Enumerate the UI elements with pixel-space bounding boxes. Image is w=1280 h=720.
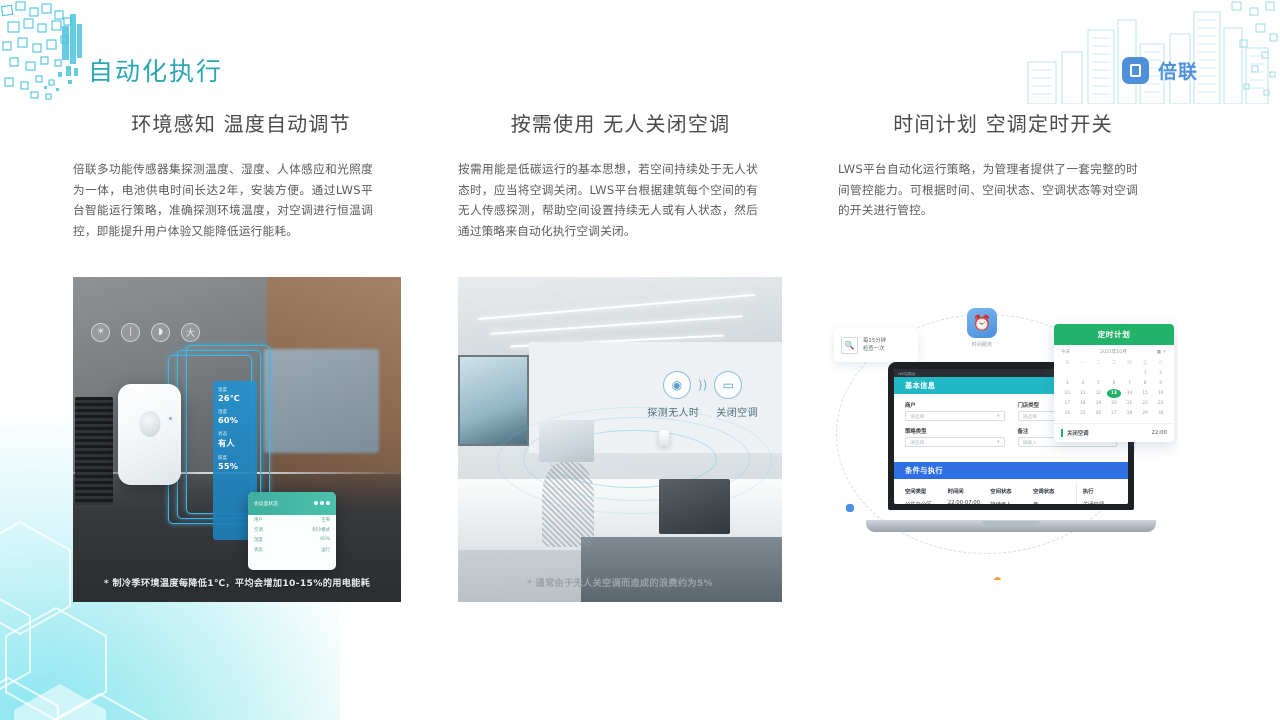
illuminance-icon: ☀ [91,323,110,342]
calendar-day[interactable]: 20 [1107,399,1122,408]
calendar-dow: 三 [1107,359,1122,368]
calendar-day[interactable]: 19 [1091,399,1106,408]
sensor-capability-icons: ☀ | ◗ 大 [91,323,201,351]
calendar-day[interactable]: 16 [1153,389,1168,398]
room-status-card: 会议室状态 用户 王英 空调 制冷模式 湿度 60% 状态 运行 [248,492,336,570]
calendar-day[interactable]: 5 [1091,379,1106,388]
page-title: 自动化执行 [88,52,223,88]
time-service-widget: ⏰ 时间服务 [962,308,1002,348]
calendar-day[interactable]: 9 [1153,379,1168,388]
th-ac-status: 空调状态 [1033,484,1076,497]
room-status-value-humidity: 60% [320,537,330,543]
vent [75,397,113,504]
occupancy-sensor-icon: ◉ [663,371,691,399]
calendar-day[interactable]: 4 [1076,379,1091,388]
room-status-value-state: 运行 [321,547,330,553]
time-service-label: 时间服务 [962,341,1002,348]
calendar-day[interactable]: 2 [1153,369,1168,378]
readout-key-humidity: 湿度 [218,409,252,415]
schedule-event-label: 关闭空调 [1061,429,1089,437]
mesh-chair [542,462,594,547]
schedule-panel-title: 定时计划 [1054,324,1174,345]
chevron-down-icon: ▾ [997,414,999,419]
feature-image-schedule-app: ⏰ 时间服务 🔍 每15分钟 检查一次 LWS控制台 基本信息 商户 [828,300,1178,580]
field-policy-type-value: 请选择 [910,439,924,446]
calendar-day[interactable]: 3 [1060,379,1075,388]
calendar-day[interactable]: 25 [1076,409,1091,418]
document-search-icon: 🔍 [841,337,858,354]
field-remark-value: 请输入 [1023,439,1037,446]
calendar-month-label[interactable]: 2021年10月 [1100,349,1127,355]
calendar-day[interactable]: 7 [1122,379,1137,388]
plus-icon[interactable]: ＋ [1162,350,1167,355]
multi-sensor-device [118,384,181,485]
calendar-day[interactable]: 1 [1138,369,1153,378]
column-1-heading: 环境感知 温度自动调节 [73,108,401,137]
room-status-label-humidity: 湿度 [254,537,263,543]
room-status-card-title: 会议室状态 [254,500,278,507]
calendar-dow: 日 [1060,359,1075,368]
brand-name: 倍联 [1158,57,1198,84]
calendar-day[interactable]: 30 [1153,409,1168,418]
schedule-event-time: 22:00 [1151,430,1167,436]
square-logo-icon [1122,57,1149,84]
overlay-labels: 探测无人时 关闭空调 [626,404,778,419]
calendar-dow: 四 [1122,359,1137,368]
calendar-day-empty [1076,369,1091,378]
readout-value-temperature: 26℃ [218,393,252,403]
td-space-type: 公共办公区 [905,497,948,504]
pixel-dispersion-decoration [0,0,96,104]
feature-column-1: 环境感知 温度自动调节 倍联多功能传感器集探测温度、湿度、人体感应和光照度为一体… [73,108,401,241]
th-space-status: 空间状态 [990,484,1033,497]
calendar-dow: 一 [1076,359,1091,368]
column-2-body: 按需用能是低碳运行的基本思想，若空间持续处于无人状态时，应当将空调关闭。LWS平… [458,159,758,241]
condition-exec-section-header: 条件与执行 [894,462,1128,479]
readout-value-illuminance: 55% [218,461,252,471]
th-action: 执行 [1076,484,1117,497]
calendar-dow: 五 [1138,359,1153,368]
th-time-range: 时间间 [948,484,991,497]
feature-column-2: 按需使用 无人关闭空调 按需用能是低碳运行的基本思想，若空间持续处于无人状态时，… [458,108,783,241]
td-space-status: 持续无人 [990,497,1033,504]
feature-column-3: 时间计划 空调定时开关 LWS平台自动化运行策略，为管理者提供了一套完整的时间管… [838,108,1168,221]
field-merchant-value: 请选择 [910,413,924,420]
calendar-day[interactable]: 10 [1060,389,1075,398]
calendar-dow: 六 [1153,359,1168,368]
calendar-nav-icons: ▦ ＋ [1157,349,1167,355]
calendar-dow: 二 [1091,359,1106,368]
readout-key-status: 状态 [218,431,252,437]
calendar-day[interactable]: 13 [1107,389,1122,398]
room-status-label-user: 用户 [254,517,263,523]
overlay-icons: ◉ )) ▭ [626,371,778,399]
field-policy-type-label: 策略类型 [905,427,1005,435]
image-2-overlay: ◉ )) ▭ 探测无人时 关闭空调 [626,371,778,419]
field-merchant-label: 商户 [905,401,1005,409]
feature-image-office: ◉ )) ▭ 探测无人时 关闭空调 * 通常由于无人关空调而造成的浪费约为5% [458,277,782,602]
accent-dot [846,504,854,512]
check-interval-line1: 每15分钟 [863,338,886,344]
room-status-label-ac: 空调 [254,527,263,533]
field-store-type-value: 请选择 [1023,413,1037,420]
room-status-card-header: 会议室状态 [248,492,336,515]
image-1-caption: * 制冷季环境温度每降低1℃，平均会增加10-15%的用电能耗 [73,575,401,589]
room-status-row: 状态 运行 [248,545,336,555]
schedule-event-row[interactable]: 关闭空调 22:00 [1054,423,1174,442]
readout-value-humidity: 60% [218,415,252,425]
td-time-range: 22:00-07:00 [948,497,991,504]
pir-lens [139,411,160,437]
chevron-down-icon: ▾ [997,440,999,445]
browser-tab-label: LWS控制台 [898,371,915,376]
grid-icon[interactable]: ▦ [1157,350,1161,355]
td-action: 关闭空调 [1076,497,1117,504]
calendar-day[interactable]: 18 [1076,399,1091,408]
motion-icon: 大 [181,323,200,342]
calendar-day[interactable]: 11 [1076,389,1091,398]
room-status-label-state: 状态 [254,547,263,553]
calendar-nav: 今天 2021年10月 ▦ ＋ [1054,345,1174,357]
calendar-day[interactable]: 21 [1122,399,1137,408]
calendar-day[interactable]: 27 [1107,409,1122,418]
calendar-day[interactable]: 28 [1122,409,1137,418]
calendar-day[interactable]: 6 [1107,379,1122,388]
image-2-caption: * 通常由于无人关空调而造成的浪费约为5% [458,575,782,589]
condition-exec-table: 空间类型 时间间 空间状态 空调状态 执行 公共办公区 22:00-07:00 … [894,479,1128,504]
readout-value-status: 有人 [218,437,252,449]
brand-logo: 倍联 [1122,57,1198,84]
room-status-value-ac: 制冷模式 [312,527,330,533]
field-policy-type: 策略类型 请选择 ▾ [905,427,1005,447]
calendar-day-empty [1091,369,1106,378]
office-desk-foreground [581,537,782,602]
calendar-day[interactable]: 14 [1122,389,1137,398]
column-3-body: LWS平台自动化运行策略，为管理者提供了一套完整的时间管控能力。可根据时间、空间… [838,159,1138,221]
city-skyline-decoration [1018,0,1280,104]
check-interval-text: 每15分钟 检查一次 [863,337,886,353]
column-3-heading: 时间计划 空调定时开关 [838,108,1168,137]
desk-monitor [539,420,594,462]
field-merchant-select[interactable]: 请选择 ▾ [905,411,1005,421]
calendar-today-button[interactable]: 今天 [1061,349,1070,355]
field-merchant: 商户 请选择 ▾ [905,401,1005,421]
calendar-day[interactable]: 12 [1091,389,1106,398]
alarm-clock-icon: ⏰ [967,308,997,338]
field-policy-type-select[interactable]: 请选择 ▾ [905,437,1005,447]
overlay-label-turnoff: 关闭空调 [716,404,758,419]
laptop-base [866,520,1156,532]
overlay-label-detect: 探测无人时 [647,404,699,419]
column-1-body: 倍联多功能传感器集探测温度、湿度、人体感应和光照度为一体，电池供电时间长达2年，… [73,159,373,241]
calendar-grid[interactable]: 日一二三四五六123456789101112131415161718192021… [1054,357,1174,423]
humidity-icon: ◗ [151,323,170,342]
status-led [169,417,172,420]
readout-key-temperature: 温度 [218,387,252,393]
schedule-panel: 定时计划 今天 2021年10月 ▦ ＋ 日一二三四五六123456789101… [1054,324,1174,442]
room-status-row: 空调 制冷模式 [248,525,336,535]
calendar-day[interactable]: 23 [1153,399,1168,408]
table-row: 公共办公区 22:00-07:00 持续无人 开 关闭空调 [905,497,1117,504]
accent-dot [994,577,1001,580]
check-interval-tooltip: 🔍 每15分钟 检查一次 [834,328,918,362]
air-conditioner-icon: ▭ [714,371,742,399]
readout-key-illuminance: 照度 [218,455,252,461]
check-interval-line2: 检查一次 [863,346,885,352]
calendar-day[interactable]: 26 [1091,409,1106,418]
foreground-monitor [659,479,730,534]
occupancy-sensor-device [659,430,669,446]
room-status-row: 用户 王英 [248,515,336,525]
td-ac-status: 开 [1033,497,1076,504]
calendar-day-empty [1060,369,1075,378]
temperature-icon: | [121,323,140,342]
calendar-day[interactable]: 24 [1060,409,1075,418]
calendar-day[interactable]: 8 [1138,379,1153,388]
room-status-row: 湿度 60% [248,535,336,545]
calendar-day[interactable]: 15 [1138,389,1153,398]
column-2-heading: 按需使用 无人关闭空调 [458,108,783,137]
calendar-day-empty [1122,369,1137,378]
table-header-row: 空间类型 时间间 空间状态 空调状态 执行 [905,484,1117,497]
signal-icon: )) [698,378,707,392]
calendar-day-empty [1107,369,1122,378]
calendar-day[interactable]: 17 [1060,399,1075,408]
calendar-day[interactable]: 22 [1138,399,1153,408]
calendar-day[interactable]: 29 [1138,409,1153,418]
room-status-card-dots [314,501,330,505]
th-space-type: 空间类型 [905,484,948,497]
feature-image-sensor: ☀ | ◗ 大 温度 26℃ 湿度 60% 状态 有人 照度 55% 会议室状态… [73,277,401,602]
room-status-value-user: 王英 [321,517,330,523]
